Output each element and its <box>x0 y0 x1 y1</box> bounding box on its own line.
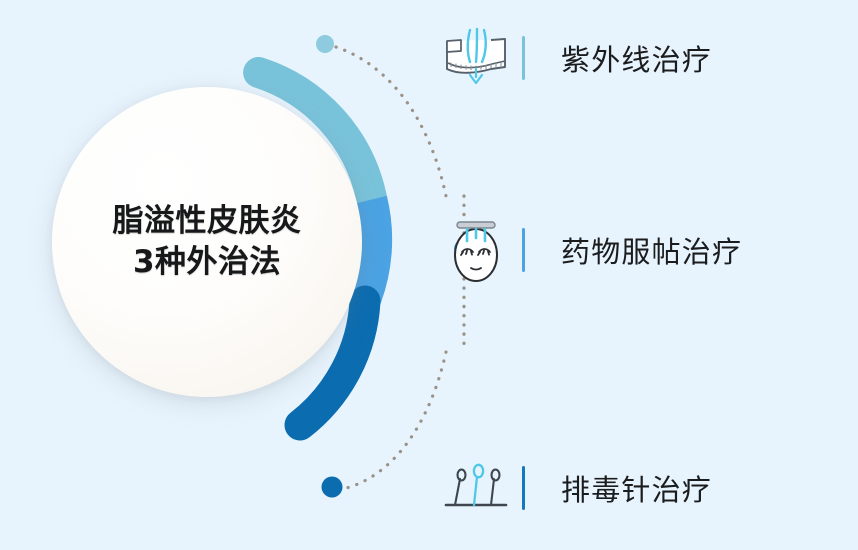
page-title: 脂溢性皮肤炎 3种外治法 <box>52 87 362 397</box>
uv-skin-rays-icon <box>430 27 522 89</box>
acupuncture-needles-icon <box>430 457 522 519</box>
list-item-uv[interactable]: 紫外线治疗 <box>430 10 858 106</box>
item-divider-needle <box>522 466 525 510</box>
item-label-patch: 药物服帖治疗 <box>561 229 742 271</box>
item-divider-patch <box>522 228 525 272</box>
list-item-patch[interactable]: 药物服帖治疗 <box>430 202 858 298</box>
title-line-1: 脂溢性皮肤炎 <box>113 201 302 242</box>
item-label-uv: 紫外线治疗 <box>561 37 712 79</box>
title-line-2: 3种外治法 <box>133 242 281 283</box>
treatment-list: 紫外线治疗 <box>430 0 858 550</box>
face-patch-icon <box>430 214 522 286</box>
item-label-needle: 排毒针治疗 <box>561 467 712 509</box>
donut-ring-cluster: 脂溢性皮肤炎 3种外治法 <box>0 0 470 550</box>
item-divider-uv <box>522 36 525 80</box>
list-item-needle[interactable]: 排毒针治疗 <box>430 440 858 536</box>
infographic-canvas: 脂溢性皮肤炎 3种外治法 <box>0 0 858 550</box>
